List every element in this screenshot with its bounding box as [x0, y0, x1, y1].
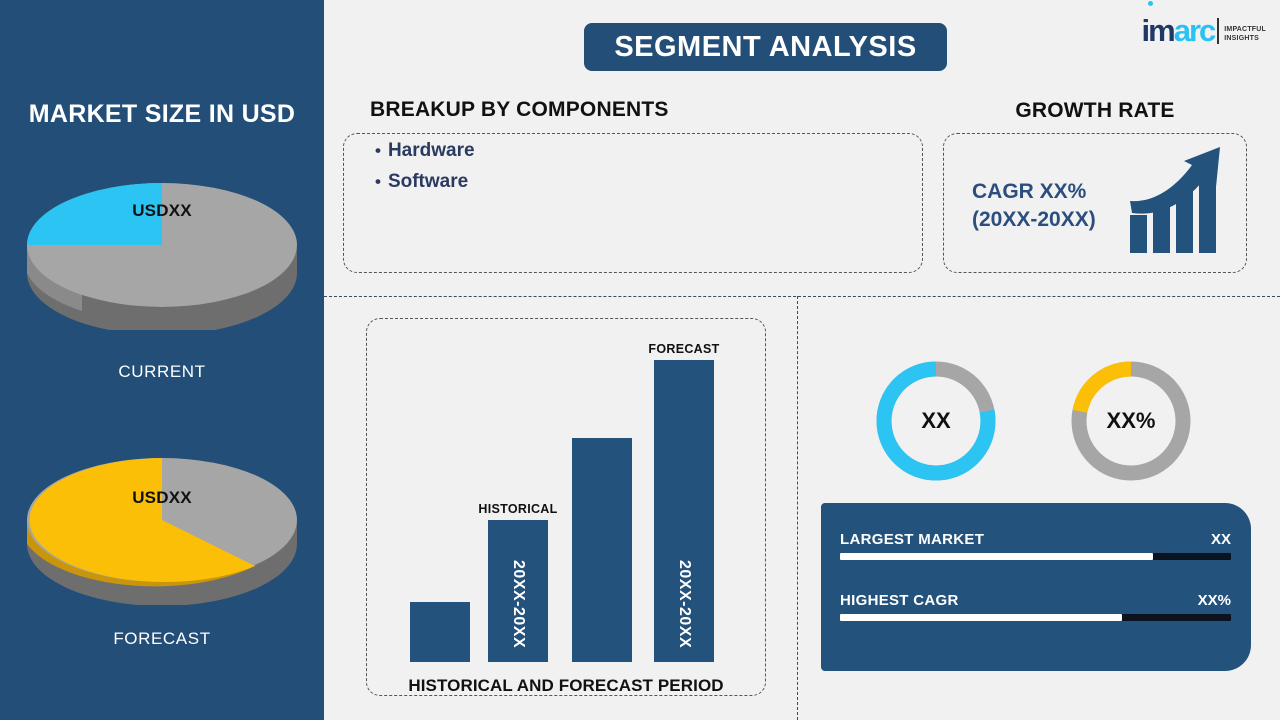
logo-text-arc: arc: [1174, 15, 1215, 46]
bar-label-3: 20XX-20XX: [675, 560, 693, 648]
progress-track-largest-market: [840, 553, 1231, 560]
pie-forecast-svg: [22, 440, 302, 605]
bar-3: FORECAST 20XX-20XX: [654, 360, 714, 662]
infographic-root: MARKET SIZE IN USD USDXX CURRENT: [0, 0, 1280, 720]
logo-tagline-line2: INSIGHTS: [1224, 35, 1266, 44]
stat-label-largest-market: LARGEST MARKET: [840, 531, 984, 548]
bullet-dot-icon: •: [375, 173, 381, 190]
logo-text-im: im: [1142, 15, 1174, 46]
bar-annotation-forecast: FORECAST: [648, 342, 719, 356]
bar-0: [410, 602, 470, 662]
bar-1: HISTORICAL 20XX-20XX: [488, 520, 548, 662]
page-title-badge: SEGMENT ANALYSIS: [584, 23, 947, 71]
bar-annotation-historical: HISTORICAL: [478, 502, 557, 516]
cagr-text-block: CAGR XX% (20XX-20XX): [972, 178, 1096, 233]
logo-divider: [1217, 18, 1219, 44]
sidebar-title: MARKET SIZE IN USD: [0, 100, 324, 129]
pie-chart-forecast: USDXX: [0, 440, 324, 600]
donut-1-label: XX: [873, 358, 999, 484]
stat-value-highest-cagr: XX%: [1198, 592, 1231, 609]
bar-chart: HISTORICAL 20XX-20XX FORECAST 20XX-20XX: [366, 318, 766, 696]
progress-fill-largest-market: [840, 553, 1153, 560]
donut-2-label: XX%: [1068, 358, 1194, 484]
donut-chart-1: XX: [873, 358, 999, 484]
component-label-software: Software: [388, 171, 468, 193]
vertical-divider: [797, 296, 798, 720]
list-item: • Hardware: [375, 140, 475, 162]
list-item: • Software: [375, 171, 475, 193]
stat-row-highest-cagr: HIGHEST CAGR XX%: [840, 592, 1231, 621]
bar-chart-caption: HISTORICAL AND FORECAST PERIOD: [366, 676, 766, 696]
stats-panel: LARGEST MARKET XX HIGHEST CAGR XX%: [821, 503, 1251, 671]
pie-current-caption: CURRENT: [0, 362, 324, 382]
donut-chart-2: XX%: [1068, 358, 1194, 484]
cagr-line-2: (20XX-20XX): [972, 206, 1096, 234]
growth-section-title: GROWTH RATE: [940, 99, 1250, 123]
bar-label-1: 20XX-20XX: [509, 560, 527, 648]
pie-current-svg: [22, 165, 302, 330]
pie-forecast-caption: FORECAST: [0, 629, 324, 649]
component-label-hardware: Hardware: [388, 140, 475, 162]
progress-fill-highest-cagr: [840, 614, 1122, 621]
stat-value-largest-market: XX: [1211, 531, 1231, 548]
bullet-dot-icon: •: [375, 142, 381, 159]
pie-chart-current: USDXX: [0, 165, 324, 325]
horizontal-divider: [324, 296, 1280, 297]
components-list: • Hardware • Software: [375, 140, 475, 202]
progress-track-highest-cagr: [840, 614, 1231, 621]
logo-tagline-line1: IMPACTFUL: [1224, 26, 1266, 35]
components-section-title: BREAKUP BY COMPONENTS: [370, 98, 669, 122]
sidebar: MARKET SIZE IN USD USDXX CURRENT: [0, 0, 324, 720]
stat-row-largest-market: LARGEST MARKET XX: [840, 531, 1231, 560]
growth-arrow-bars-icon: [1128, 145, 1228, 258]
bar-2: [572, 438, 632, 662]
logo-dot-icon: [1148, 1, 1153, 6]
stat-label-highest-cagr: HIGHEST CAGR: [840, 592, 959, 609]
imarc-logo: im arc IMPACTFUL INSIGHTS: [1142, 10, 1266, 50]
page-title: SEGMENT ANALYSIS: [614, 31, 916, 64]
cagr-line-1: CAGR XX%: [972, 178, 1096, 206]
